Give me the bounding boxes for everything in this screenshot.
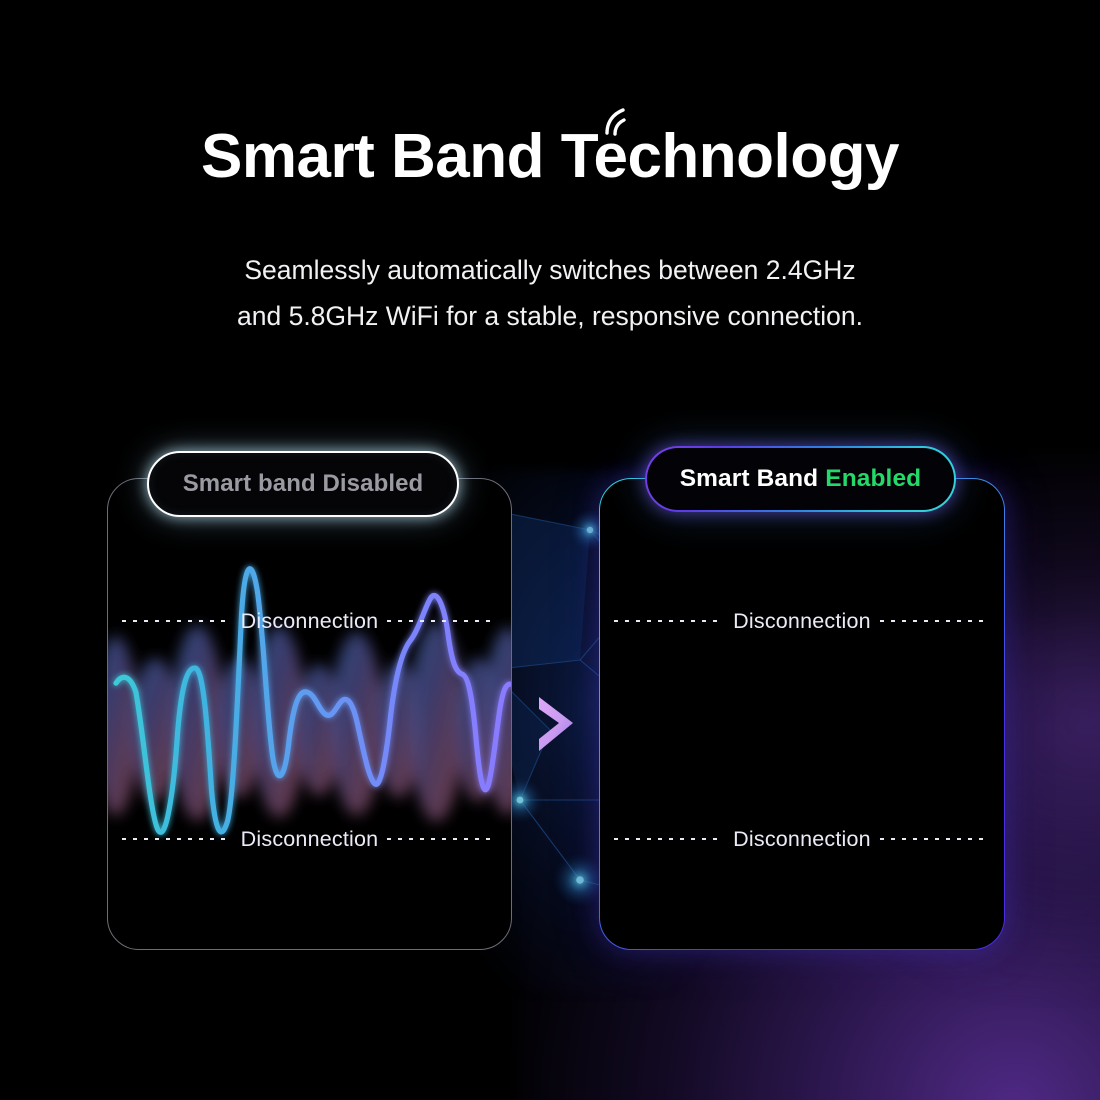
stable-signal-line (600, 479, 1004, 949)
dashed-line-left (122, 620, 232, 622)
page-subtitle: Seamlessly automatically switches betwee… (0, 248, 1100, 339)
dashed-line-left (614, 620, 724, 622)
wifi-signal-icon (599, 104, 633, 138)
header-block: Smart Band Technology (0, 126, 1100, 188)
title-wrapper: Smart Band Technology (201, 126, 899, 188)
disconnection-line-bottom-right: Disconnection (614, 828, 990, 850)
card-smart-band-enabled: Disconnection Disconnection (599, 478, 1005, 950)
page-title: Smart Band Technology (201, 126, 899, 188)
card-smart-band-disabled: Disconnection Disconnection (107, 478, 512, 950)
dashed-line-left (614, 838, 724, 840)
unstable-signal-waveform (108, 479, 511, 949)
right-card-inner: Disconnection Disconnection (600, 479, 1004, 949)
status-badge-enabled-label: Smart BandEnabled (680, 465, 922, 493)
status-badge-enabled-main: Smart Band (680, 465, 819, 492)
disconnection-label-top: Disconnection (241, 609, 379, 634)
subtitle-line-2: and 5.8GHz WiFi for a stable, responsive… (0, 294, 1100, 340)
status-badge-enabled-status: Enabled (825, 465, 921, 492)
dashed-line-right (387, 620, 497, 622)
disconnection-label-top: Disconnection (733, 609, 871, 634)
subtitle-line-1: Seamlessly automatically switches betwee… (0, 248, 1100, 294)
chevron-right-icon (533, 693, 579, 755)
disconnection-line-bottom-left: Disconnection (122, 828, 497, 850)
disconnection-label-bottom: Disconnection (241, 827, 379, 852)
disconnection-label-bottom: Disconnection (733, 827, 871, 852)
dashed-line-right (880, 620, 990, 622)
status-badge-enabled[interactable]: Smart BandEnabled (645, 446, 956, 512)
disconnection-line-top-left: Disconnection (122, 610, 497, 632)
dashed-line-right (880, 838, 990, 840)
dashed-line-right (387, 838, 497, 840)
status-badge-disabled[interactable]: Smart band Disabled (147, 451, 459, 517)
status-badge-disabled-label: Smart band Disabled (183, 470, 424, 498)
infographic-root: Smart Band Technology Seamlessly automat… (0, 0, 1100, 1100)
dashed-line-left (122, 838, 232, 840)
left-card-inner: Disconnection Disconnection (108, 479, 511, 949)
disconnection-line-top-right: Disconnection (614, 610, 990, 632)
